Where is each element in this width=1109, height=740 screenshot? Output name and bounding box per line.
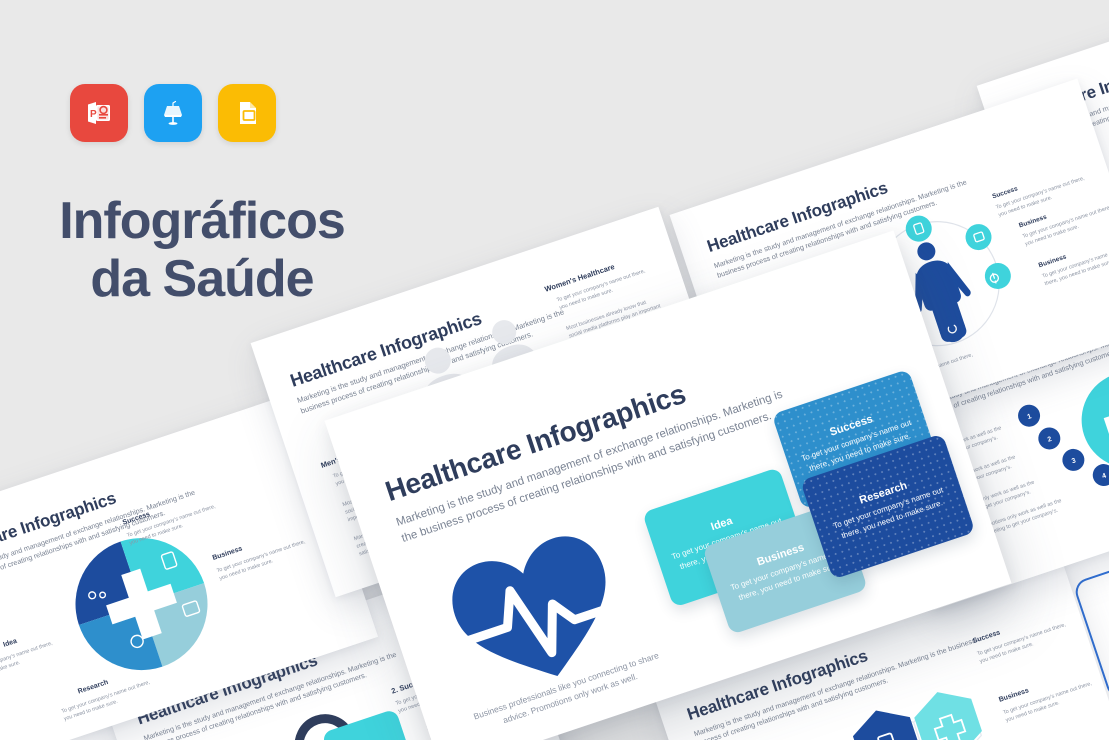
format-icon-row: P <box>70 84 276 142</box>
svg-text:P: P <box>90 109 97 120</box>
powerpoint-icon[interactable]: P <box>70 84 128 142</box>
promo-panel: P Infográfic <box>0 0 400 740</box>
wheel-node-business-1 <box>962 221 995 254</box>
google-slides-icon[interactable] <box>218 84 276 142</box>
page-title-line2: da Saúde <box>22 250 382 308</box>
keynote-icon[interactable] <box>144 84 202 142</box>
hex-success <box>909 683 987 740</box>
wheel-node-success <box>902 212 935 245</box>
page-title-line1: Infográficos <box>59 192 345 250</box>
page-title: Infográficos da Saúde <box>22 192 382 308</box>
promo-canvas: Healthcare Infographics Marketing is the… <box>0 0 1109 740</box>
